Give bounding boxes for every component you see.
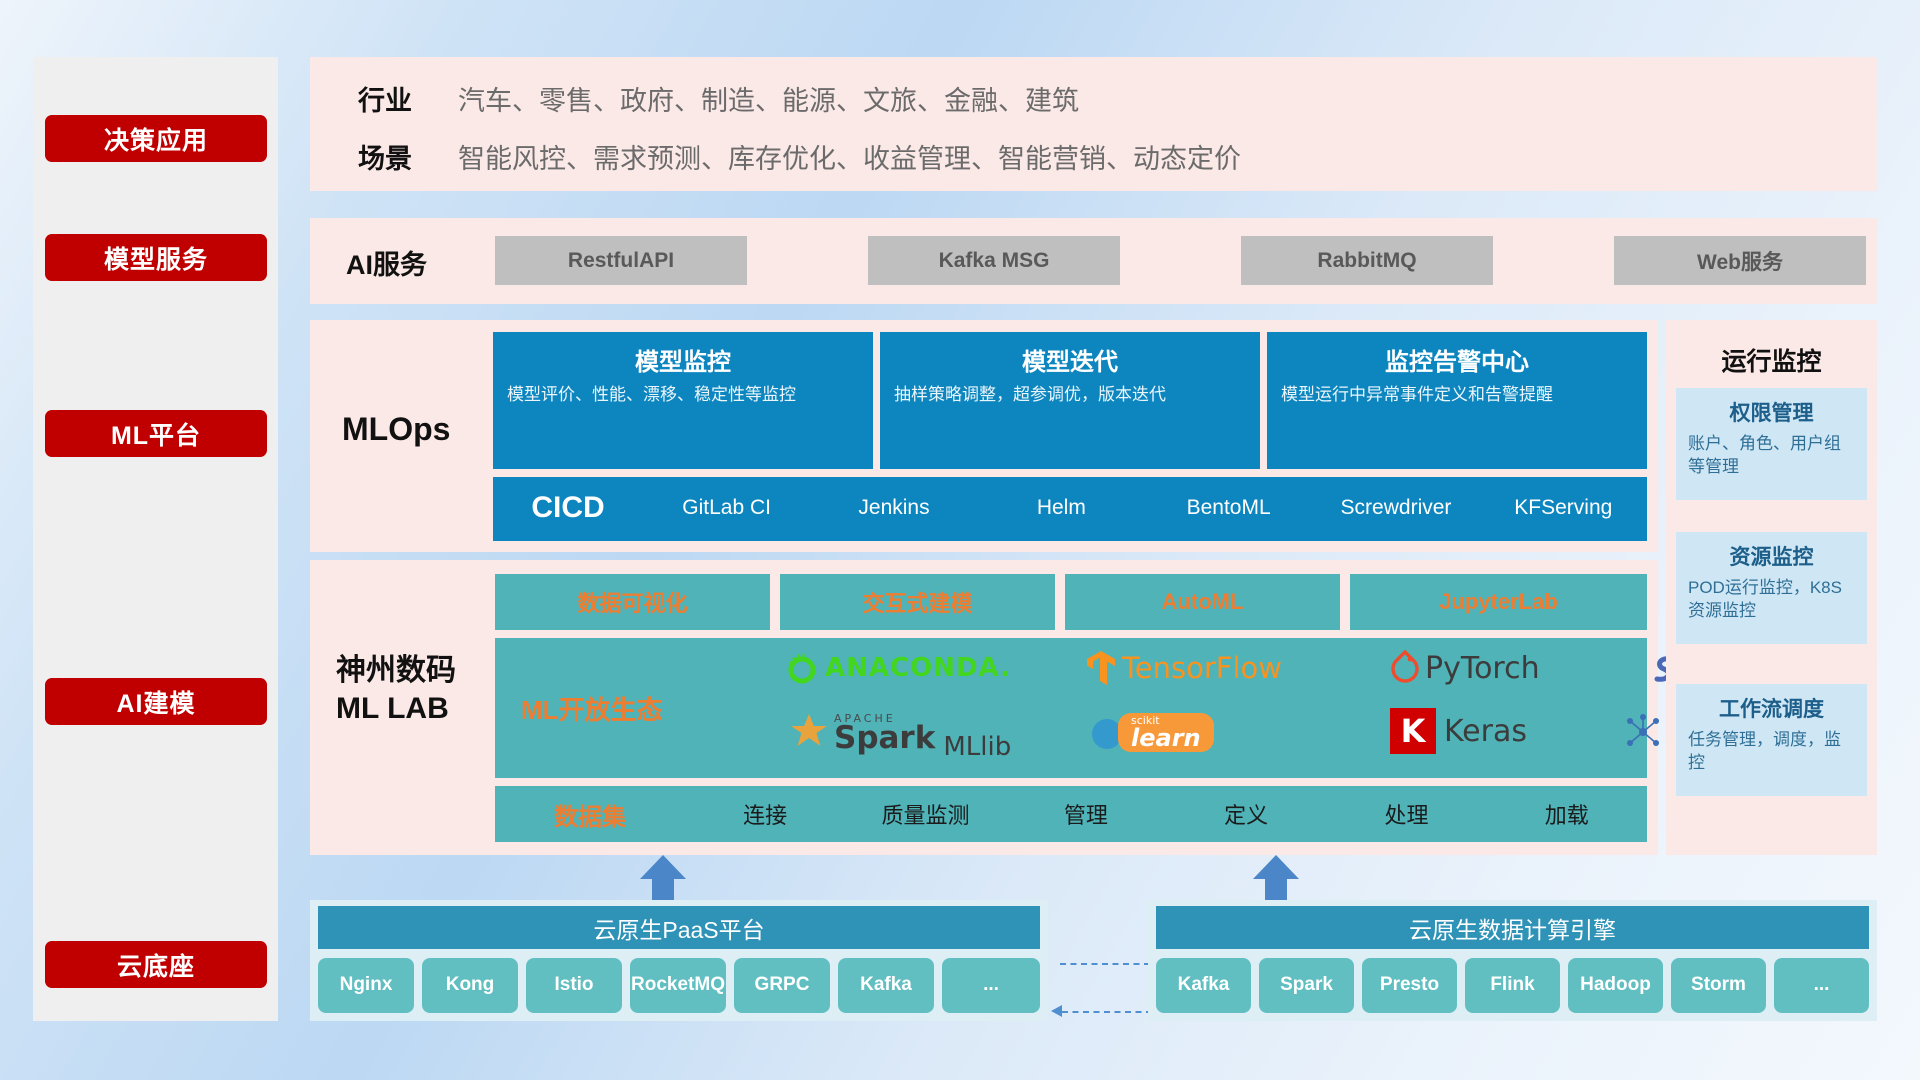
dashed-connector-left: [1062, 1011, 1152, 1013]
card-desc: 抽样策略调整，超参调优，版本迭代: [894, 384, 1246, 407]
card-desc: 任务管理，调度，监控: [1688, 729, 1855, 775]
mlops-card-alert-center[interactable]: 监控告警中心 模型运行中异常事件定义和告警提醒: [1267, 332, 1647, 469]
card-title: 模型监控: [507, 342, 859, 377]
card-title: 资源监控: [1688, 541, 1855, 571]
card-desc: 模型评价、性能、漂移、稳定性等监控: [507, 384, 859, 407]
cicd-bar: CICD GitLab CI Jenkins Helm BentoML Scre…: [493, 477, 1647, 541]
tool-jupyterlab[interactable]: JupyterLab: [1350, 574, 1647, 630]
scenario-value: 智能风控、需求预测、库存优化、收益管理、智能营销、动态定价: [458, 137, 1241, 176]
tool-automl[interactable]: AutoML: [1065, 574, 1340, 630]
ai-service-band: AI服务 RestfulAPI Kafka MSG RabbitMQ Web服务: [310, 218, 1877, 304]
ml-lab-label-line2: ML LAB: [336, 690, 456, 728]
mllib-text: MLlib: [943, 732, 1011, 762]
dataset-item-processing[interactable]: 处理: [1326, 798, 1486, 830]
ai-service-item-web-service[interactable]: Web服务: [1614, 236, 1866, 285]
mlops-label: MLOps: [342, 411, 450, 448]
paas-chip-istio[interactable]: Istio: [526, 958, 622, 1013]
dataset-item-loading[interactable]: 加载: [1487, 798, 1647, 830]
cloud-base-group-data-engine: 云原生数据计算引擎 Kafka Spark Presto Flink Hadoo…: [1148, 900, 1877, 1021]
tool-interactive-modeling[interactable]: 交互式建模: [780, 574, 1055, 630]
card-desc: 账户、角色、用户组等管理: [1688, 433, 1855, 479]
mlops-band: MLOps 模型监控 模型评价、性能、漂移、稳定性等监控 模型迭代 抽样策略调整…: [310, 320, 1658, 552]
industry-label: 行业: [358, 79, 412, 118]
rail-item-cloud-base[interactable]: 云底座: [45, 941, 267, 988]
dashed-arrow-head-left: [1051, 1005, 1062, 1017]
engine-chip-storm[interactable]: Storm: [1671, 958, 1766, 1013]
anaconda-logo: ANACONDA.: [785, 648, 1011, 688]
card-desc: POD运行监控，K8S资源监控: [1688, 577, 1855, 623]
card-desc: 模型运行中异常事件定义和告警提醒: [1281, 384, 1633, 407]
card-title: 模型迭代: [894, 342, 1246, 377]
engine-chip-presto[interactable]: Presto: [1362, 958, 1457, 1013]
tool-data-visualization[interactable]: 数据可视化: [495, 574, 770, 630]
ai-service-item-kafka-msg[interactable]: Kafka MSG: [868, 236, 1120, 285]
runtime-monitor-title: 运行监控: [1666, 342, 1877, 378]
monitor-card-workflow[interactable]: 工作流调度 任务管理，调度，监控: [1676, 684, 1867, 796]
engine-chip-kafka[interactable]: Kafka: [1156, 958, 1251, 1013]
tensorflow-logo-text: TensorFlow: [1122, 651, 1282, 685]
mlops-card-model-monitoring[interactable]: 模型监控 模型评价、性能、漂移、稳定性等监控: [493, 332, 873, 469]
left-rail: 决策应用 模型服务 ML平台 AI建模 云底座: [33, 57, 278, 1021]
engine-chip-spark[interactable]: Spark: [1259, 958, 1354, 1013]
runtime-monitor-panel: 运行监控 权限管理 账户、角色、用户组等管理 资源监控 POD运行监控，K8S资…: [1666, 320, 1877, 855]
paas-chip-rocketmq[interactable]: RocketMQ: [630, 958, 726, 1013]
paas-chip-kong[interactable]: Kong: [422, 958, 518, 1013]
engine-chip-flink[interactable]: Flink: [1465, 958, 1560, 1013]
rail-item-decision-app[interactable]: 决策应用: [45, 115, 267, 162]
cicd-item-kfserving[interactable]: KFServing: [1480, 477, 1647, 520]
pytorch-logo-text: PyTorch: [1425, 651, 1540, 686]
data-engine-header: 云原生数据计算引擎: [1156, 906, 1869, 949]
keras-logo-text: Keras: [1444, 714, 1527, 749]
paas-chip-nginx[interactable]: Nginx: [318, 958, 414, 1013]
dataset-item-definition[interactable]: 定义: [1166, 798, 1326, 830]
cicd-item-jenkins[interactable]: Jenkins: [810, 477, 977, 520]
ml-lab-label-line1: 神州数码: [336, 652, 456, 690]
dataset-row: 数据集 连接 质量监测 管理 定义 处理 加载: [495, 786, 1647, 842]
learn-text: learn: [1131, 726, 1201, 750]
rail-item-ai-modeling[interactable]: AI建模: [45, 678, 267, 725]
industry-value: 汽车、零售、政府、制造、能源、文旅、金融、建筑: [458, 79, 1079, 118]
cicd-label: CICD: [493, 477, 643, 525]
dataset-item-connect[interactable]: 连接: [685, 798, 845, 830]
decision-layer-band: 行业 汽车、零售、政府、制造、能源、文旅、金融、建筑 场景 智能风控、需求预测、…: [310, 57, 1877, 191]
scenario-label: 场景: [358, 137, 412, 176]
ai-service-item-restfulapi[interactable]: RestfulAPI: [495, 236, 747, 285]
dataset-item-management[interactable]: 管理: [1006, 798, 1166, 830]
keras-mark-text: K: [1401, 712, 1426, 750]
scikit-learn-logo: scikit learn: [1090, 708, 1214, 756]
paas-chip-grpc[interactable]: GRPC: [734, 958, 830, 1013]
paas-chip-kafka[interactable]: Kafka: [838, 958, 934, 1013]
dataset-label: 数据集: [495, 797, 685, 832]
monitor-card-resource[interactable]: 资源监控 POD运行监控，K8S资源监控: [1676, 532, 1867, 644]
cicd-item-helm[interactable]: Helm: [978, 477, 1145, 520]
rail-item-ml-platform[interactable]: ML平台: [45, 410, 267, 457]
dataset-item-quality-monitoring[interactable]: 质量监测: [845, 798, 1005, 830]
ml-ecosystem-label: ML开放生态: [521, 690, 663, 727]
cicd-item-screwdriver[interactable]: Screwdriver: [1312, 477, 1479, 520]
pytorch-logo: PyTorch: [1390, 646, 1540, 690]
ai-service-item-rabbitmq[interactable]: RabbitMQ: [1241, 236, 1493, 285]
engine-chip-more[interactable]: ...: [1774, 958, 1869, 1013]
rail-item-model-service[interactable]: 模型服务: [45, 234, 267, 281]
ml-lab-label: 神州数码 ML LAB: [336, 652, 456, 727]
ml-lab-band: 神州数码 ML LAB 数据可视化 交互式建模 AutoML JupyterLa…: [310, 560, 1658, 855]
ml-ecosystem-panel: ML开放生态 ANACONDA. TensorFlow PyTorch sas: [495, 638, 1647, 778]
ai-service-label: AI服务: [346, 243, 427, 282]
paas-header: 云原生PaaS平台: [318, 906, 1040, 949]
spark-logo-text: Spark: [834, 725, 935, 753]
cloud-base-group-paas: 云原生PaaS平台 Nginx Kong Istio RocketMQ GRPC…: [310, 900, 1048, 1021]
architecture-diagram: 决策应用 模型服务 ML平台 AI建模 云底座 行业 汽车、零售、政府、制造、能…: [0, 0, 1920, 1080]
card-title: 监控告警中心: [1281, 342, 1633, 377]
monitor-card-permission[interactable]: 权限管理 账户、角色、用户组等管理: [1676, 388, 1867, 500]
tensorflow-logo: TensorFlow: [1085, 646, 1282, 690]
cicd-item-bentoml[interactable]: BentoML: [1145, 477, 1312, 520]
keras-logo: K Keras: [1390, 706, 1527, 756]
engine-chip-hadoop[interactable]: Hadoop: [1568, 958, 1663, 1013]
card-title: 工作流调度: [1688, 693, 1855, 723]
mlops-card-model-iteration[interactable]: 模型迭代 抽样策略调整，超参调优，版本迭代: [880, 332, 1260, 469]
cicd-item-gitlab-ci[interactable]: GitLab CI: [643, 477, 810, 520]
paas-chip-more[interactable]: ...: [942, 958, 1040, 1013]
card-title: 权限管理: [1688, 397, 1855, 427]
dashed-connector-right: [1060, 963, 1150, 965]
anaconda-logo-text: ANACONDA.: [825, 653, 1011, 683]
apache-spark-mllib-logo: APACHE Spark MLlib: [787, 702, 1011, 762]
